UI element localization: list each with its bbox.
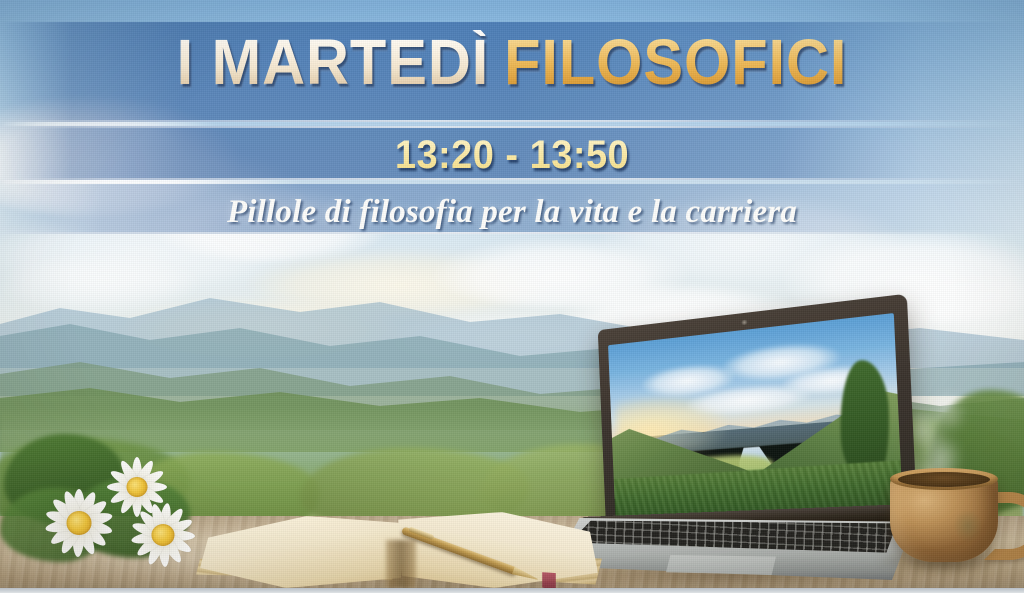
title-part-two: FILOSOFICI <box>504 30 847 94</box>
coffee-mug <box>884 466 1024 576</box>
title-part-one: I MARTEDÌ <box>177 30 490 94</box>
open-book <box>190 500 610 593</box>
event-time: 13:20 - 13:50 <box>26 133 999 178</box>
poster-canvas: I MARTEDÌFILOSOFICI 13:20 - 13:50 Pillol… <box>0 0 1024 593</box>
laptop-trackpad[interactable] <box>666 555 776 575</box>
webcam-icon <box>741 320 748 326</box>
daisy-flower <box>122 494 204 576</box>
page-title: I MARTEDÌFILOSOFICI <box>36 30 988 94</box>
daisy-flower <box>36 480 122 566</box>
daisy-bouquet <box>0 432 225 572</box>
bottom-edge-strip <box>0 588 1024 593</box>
laptop-screen <box>608 313 903 526</box>
laptop-lid <box>598 294 918 537</box>
book-page-left <box>200 516 405 588</box>
mug-liquid <box>898 472 990 487</box>
daisy-center <box>152 524 175 546</box>
daisy-center <box>67 511 92 535</box>
pen-nib <box>512 567 539 583</box>
page-subtitle: Pillole di filosofia per la vita e la ca… <box>0 194 1024 231</box>
